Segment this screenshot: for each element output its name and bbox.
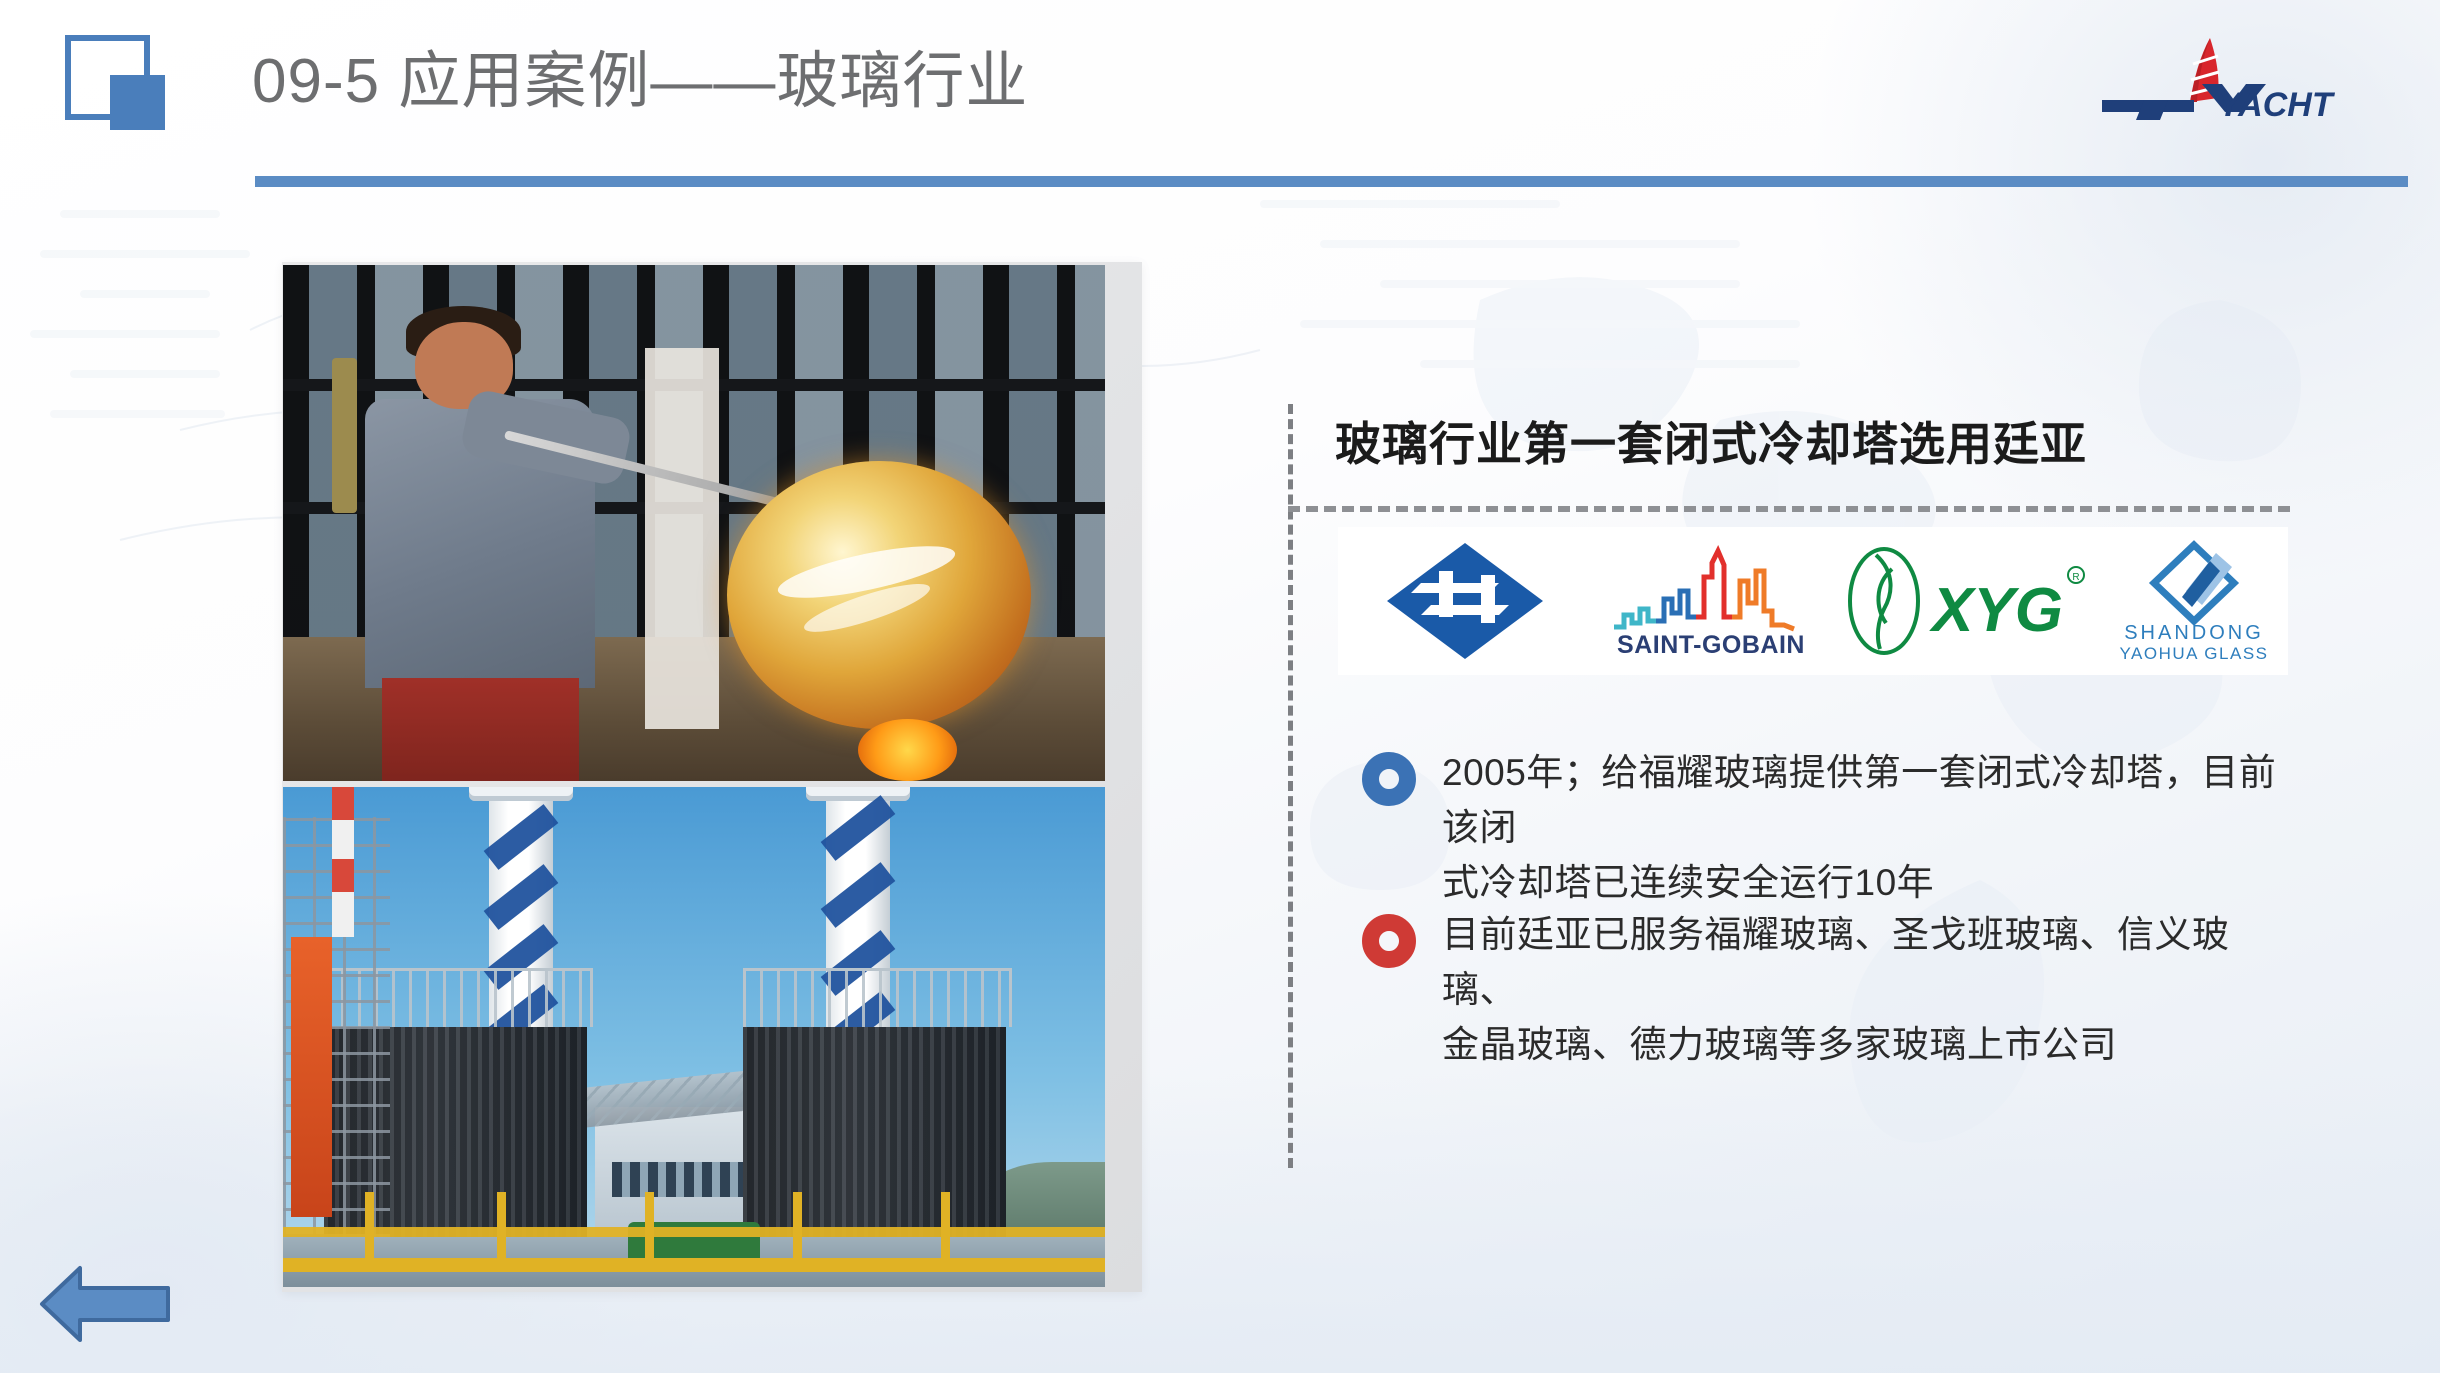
vertical-dashed-divider (1288, 404, 1293, 1168)
page-title: 09-5 应用案例——玻璃行业 (252, 30, 1028, 120)
red-ring-bullet-icon (1362, 914, 1416, 968)
back-arrow-icon[interactable] (38, 1262, 173, 1346)
brand-logo: YACHT (2098, 34, 2398, 120)
title-underline-rule (255, 176, 2408, 187)
svg-text:R: R (2072, 572, 2079, 583)
svg-text:XYG: XYG (1929, 576, 2063, 645)
svg-text:SAINT-GOBAIN: SAINT-GOBAIN (1617, 631, 1805, 659)
svg-text:YAOHUA GLASS: YAOHUA GLASS (2119, 644, 2268, 663)
glass-blower-photo (283, 265, 1105, 781)
bullet-line: 金晶玻璃、德力玻璃等多家玻璃上市公司 (1442, 1018, 2292, 1073)
svg-text:YACHT: YACHT (2218, 86, 2336, 120)
svg-text:SHANDONG: SHANDONG (2124, 622, 2264, 644)
bullet-line: 目前廷亚已服务福耀玻璃、圣戈班玻璃、信义玻璃、 (1442, 908, 2292, 1018)
blue-ring-bullet-icon (1362, 752, 1416, 806)
section-heading: 玻璃行业第一套闭式冷却塔选用廷亚 (1335, 408, 2087, 474)
horizontal-dashed-divider (1288, 506, 2290, 512)
bullet-item: 2005年；给福耀玻璃提供第一套闭式冷却塔，目前该闭 式冷却塔已连续安全运行10… (1362, 746, 2292, 910)
bullet-item: 目前廷亚已服务福耀玻璃、圣戈班玻璃、信义玻璃、 金晶玻璃、德力玻璃等多家玻璃上市… (1362, 908, 2292, 1072)
bullet-text: 目前廷亚已服务福耀玻璃、圣戈班玻璃、信义玻璃、 金晶玻璃、德力玻璃等多家玻璃上市… (1442, 908, 2292, 1072)
brand-wordmark: YACHT (2102, 84, 2336, 120)
bullet-line: 式冷却塔已连续安全运行10年 (1442, 856, 2292, 911)
slide-canvas: 09-5 应用案例——玻璃行业 YACHT (0, 0, 2440, 1373)
customer-logo-strip: SAINT-GOBAIN XYG R (1338, 527, 2288, 675)
bullet-line: 2005年；给福耀玻璃提供第一套闭式冷却塔，目前该闭 (1442, 746, 2292, 856)
shandong-yaohua-glass-logo: SHANDONG YAOHUA GLASS (2099, 527, 2288, 675)
bullet-text: 2005年；给福耀玻璃提供第一套闭式冷却塔，目前该闭 式冷却塔已连续安全运行10… (1442, 746, 2292, 910)
saint-gobain-logo: SAINT-GOBAIN (1591, 527, 1831, 675)
fuyao-glass-logo (1338, 527, 1591, 675)
xyg-xinyi-glass-logo: XYG R (1831, 527, 2099, 675)
filled-square-icon (110, 75, 165, 130)
cooling-tower-photo (283, 787, 1105, 1287)
